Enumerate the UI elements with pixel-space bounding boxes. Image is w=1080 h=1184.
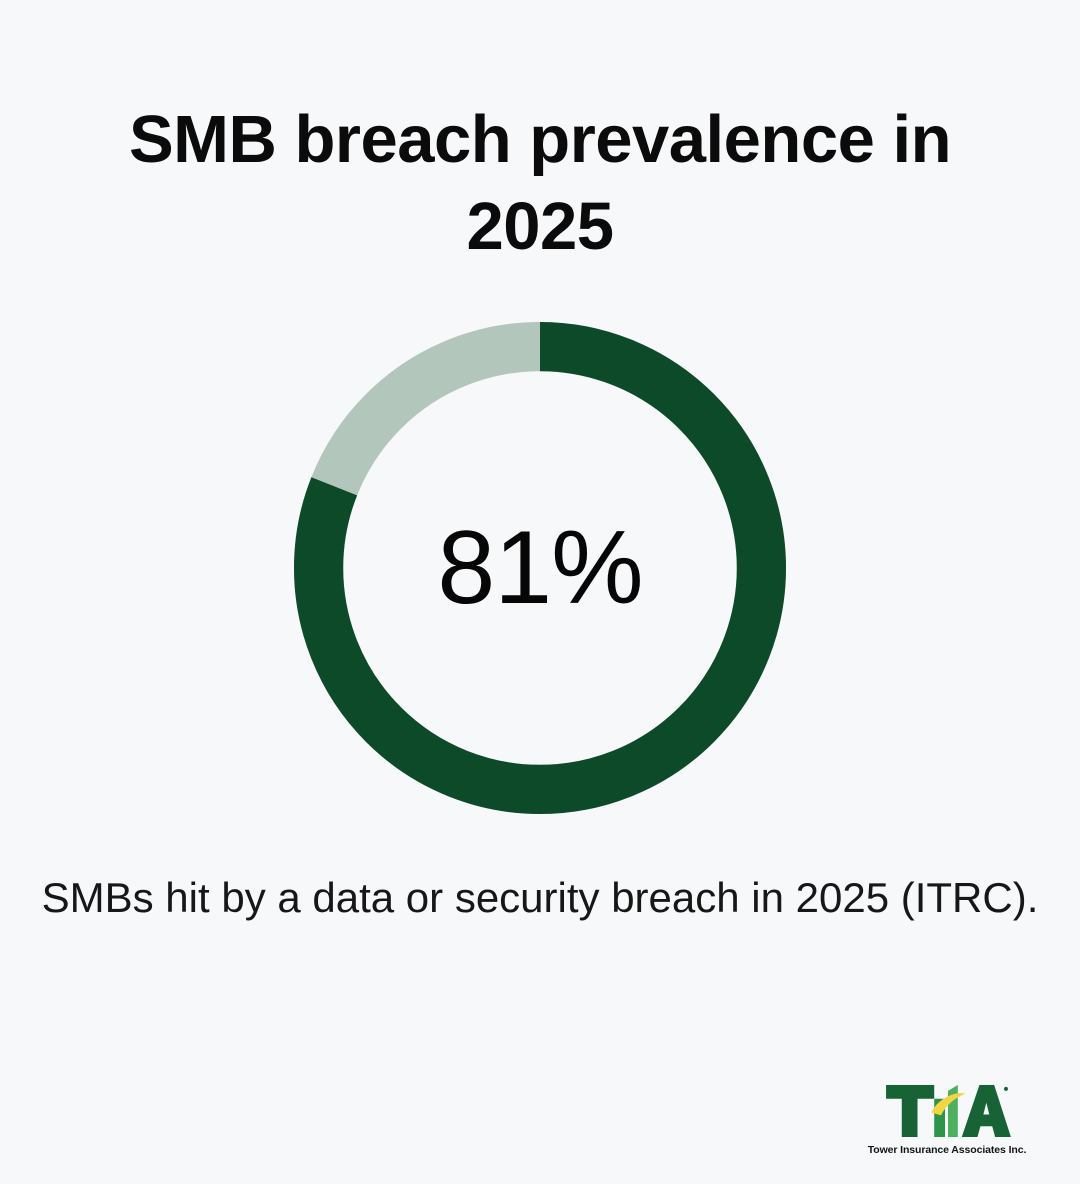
- caption-block: SMBs hit by a data or security breach in…: [40, 870, 1040, 927]
- chart-caption: SMBs hit by a data or security breach in…: [40, 870, 1040, 927]
- tia-logo-icon: [882, 1082, 1012, 1140]
- page-title: SMB breach prevalence in 2025: [60, 96, 1020, 270]
- donut-chart-svg: [294, 322, 786, 814]
- logo-tagline: Tower Insurance Associates Inc.: [868, 1144, 1027, 1156]
- donut-chart: 81%: [294, 322, 786, 814]
- infographic-canvas: SMB breach prevalence in 2025 81% SMBs h…: [0, 0, 1080, 1184]
- title-block: SMB breach prevalence in 2025: [60, 96, 1020, 270]
- brand-logo: Tower Insurance Associates Inc.: [852, 1082, 1042, 1156]
